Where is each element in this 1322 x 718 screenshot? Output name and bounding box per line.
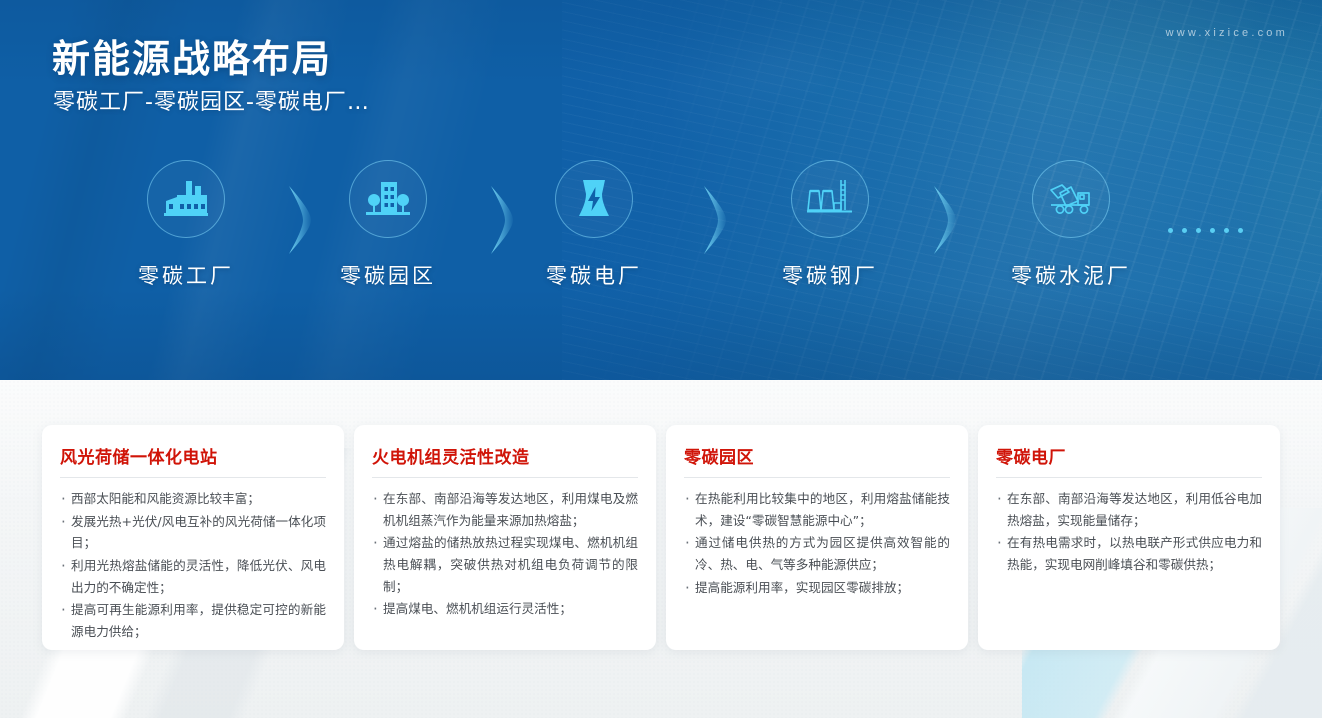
card-bullet-list: 在东部、南部沿海等发达地区，利用煤电及燃机机组蒸汽作为能量来源加热熔盐； 通过熔… [372, 488, 638, 620]
card-bullet-list: 西部太阳能和风能资源比较丰富； 发展光热+光伏/风电互补的风光荷储一体化项目； … [60, 488, 326, 643]
page-subtitle: 零碳工厂-零碳园区-零碳电厂… [53, 84, 370, 116]
cement-truck-icon-circle [1032, 160, 1110, 238]
flow-step-label: 零碳水泥厂 [991, 260, 1151, 290]
card-bullet: 通过熔盐的储热放热过程实现煤电、燃机机组热电解耦，突破供热对机组电负荷调节的限制… [372, 532, 638, 597]
card-bullet: 利用光热熔盐储能的灵活性，降低光伏、风电出力的不确定性； [60, 555, 326, 598]
card-title: 风光荷储一体化电站 [60, 443, 326, 478]
card-bullet-list: 在东部、南部沿海等发达地区，利用低谷电加热熔盐，实现能量储存； 在有热电需求时，… [996, 488, 1262, 576]
card-bullet: 在有热电需求时，以热电联产形式供应电力和热能，实现电网削峰填谷和零碳供热； [996, 532, 1262, 575]
flow-step-steel-mill[interactable]: 零碳钢厂 [750, 160, 910, 290]
info-card-list: 风光荷储一体化电站 西部太阳能和风能资源比较丰富； 发展光热+光伏/风电互补的风… [0, 425, 1322, 650]
flow-step-label: 零碳电厂 [514, 260, 674, 290]
card-bullet: 通过储电供热的方式为园区提供高效智能的冷、热、电、气等多种能源供应； [684, 532, 950, 575]
card-bullet: 发展光热+光伏/风电互补的风光荷储一体化项目； [60, 511, 326, 554]
factory-icon-circle [147, 160, 225, 238]
card-bullet: 提高能源利用率，实现园区零碳排放； [684, 577, 950, 599]
flow-step-factory[interactable]: 零碳工厂 [106, 160, 266, 290]
office-park-icon [365, 179, 411, 219]
steel-mill-icon [806, 178, 854, 220]
flow-arrow-4 [930, 184, 974, 256]
flow-step-label: 零碳钢厂 [750, 260, 910, 290]
card-bullet: 西部太阳能和风能资源比较丰富； [60, 488, 326, 510]
card-title: 零碳电厂 [996, 443, 1262, 478]
card-bullet-list: 在热能利用比较集中的地区，利用熔盐储能技术，建设“零碳智慧能源中心”； 通过储电… [684, 488, 950, 598]
steel-mill-icon-circle [791, 160, 869, 238]
card-bullet: 在东部、南部沿海等发达地区，利用煤电及燃机机组蒸汽作为能量来源加热熔盐； [372, 488, 638, 531]
power-plant-icon-circle [555, 160, 633, 238]
slide-page: www.xizice.com 新能源战略布局 零碳工厂-零碳园区-零碳电厂… [0, 0, 1322, 718]
info-card[interactable]: 风光荷储一体化电站 西部太阳能和风能资源比较丰富； 发展光热+光伏/风电互补的风… [42, 425, 344, 650]
flow-trailing-dots [1168, 228, 1243, 233]
info-card[interactable]: 零碳电厂 在东部、南部沿海等发达地区，利用低谷电加热熔盐，实现能量储存； 在有热… [978, 425, 1280, 650]
info-card[interactable]: 火电机组灵活性改造 在东部、南部沿海等发达地区，利用煤电及燃机机组蒸汽作为能量来… [354, 425, 656, 650]
factory-icon [163, 179, 209, 219]
process-flow: 零碳工厂 [0, 160, 1322, 320]
site-watermark: www.xizice.com [1166, 27, 1288, 39]
page-title: 新能源战略布局 [52, 28, 332, 83]
flow-step-park[interactable]: 零碳园区 [308, 160, 468, 290]
flow-step-power-plant[interactable]: 零碳电厂 [514, 160, 674, 290]
card-title: 零碳园区 [684, 443, 950, 478]
power-plant-icon [572, 178, 616, 220]
info-card[interactable]: 零碳园区 在热能利用比较集中的地区，利用熔盐储能技术，建设“零碳智慧能源中心”；… [666, 425, 968, 650]
flow-arrow-3 [700, 184, 744, 256]
card-bullet: 提高可再生能源利用率，提供稳定可控的新能源电力供给； [60, 599, 326, 642]
card-bullet: 提高煤电、燃机机组运行灵活性； [372, 598, 638, 620]
flow-step-label: 零碳工厂 [106, 260, 266, 290]
cement-truck-icon [1047, 181, 1095, 217]
office-park-icon-circle [349, 160, 427, 238]
card-bullet: 在热能利用比较集中的地区，利用熔盐储能技术，建设“零碳智慧能源中心”； [684, 488, 950, 531]
flow-step-label: 零碳园区 [308, 260, 468, 290]
card-title: 火电机组灵活性改造 [372, 443, 638, 478]
hero-banner: www.xizice.com 新能源战略布局 零碳工厂-零碳园区-零碳电厂… [0, 0, 1322, 380]
card-bullet: 在东部、南部沿海等发达地区，利用低谷电加热熔盐，实现能量储存； [996, 488, 1262, 531]
flow-step-cement-plant[interactable]: 零碳水泥厂 [991, 160, 1151, 290]
